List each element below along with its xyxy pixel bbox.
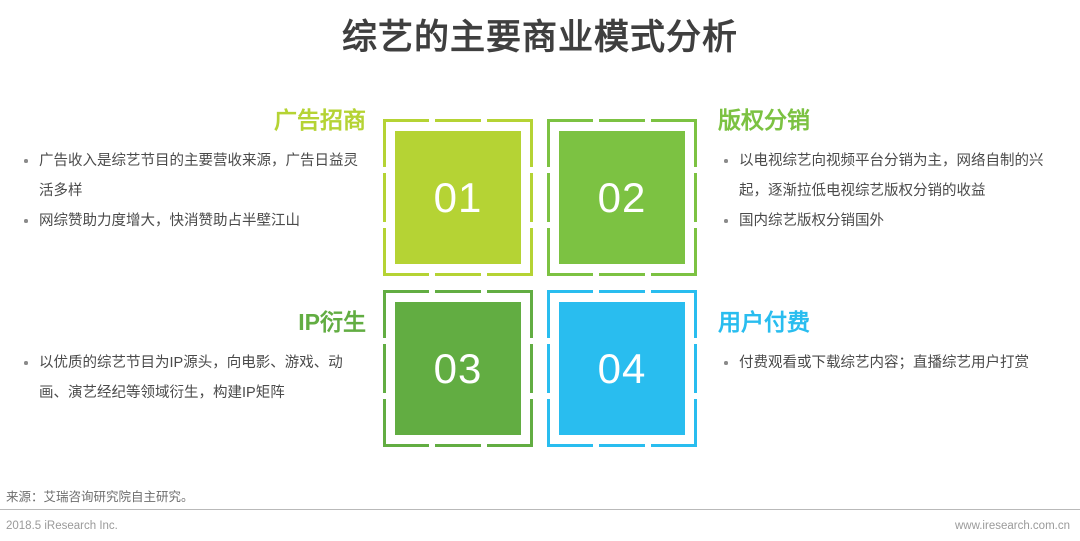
frame-dash-right-icon bbox=[530, 173, 533, 222]
frame-dash-bottom-icon bbox=[435, 444, 481, 447]
footer-divider bbox=[0, 509, 1080, 510]
tile-cell-03: 03 bbox=[383, 290, 533, 447]
slide-canvas: 综艺的主要商业模式分析 广告招商 广告收入是综艺节目的主要营收来源，广告日益灵活… bbox=[0, 0, 1080, 541]
frame-dash-left-icon bbox=[383, 173, 386, 222]
mode-tile-grid: 01 02 03 bbox=[383, 119, 697, 447]
source-note: 来源：艾瑞咨询研究院自主研究。 bbox=[6, 488, 194, 506]
frame-dash-top-icon bbox=[599, 290, 645, 293]
panel-heading-copyright-distribution: 版权分销 bbox=[718, 106, 1070, 134]
tile-cell-02: 02 bbox=[547, 119, 697, 276]
panel-heading-ip-derivatives: IP衍生 bbox=[18, 308, 366, 336]
list-item: 国内综艺版权分销国外 bbox=[718, 206, 1070, 236]
list-item: 以优质的综艺节目为IP源头，向电影、游戏、动画、演艺经纪等领域衍生，构建IP矩阵 bbox=[18, 348, 366, 408]
bullet-list-ip-derivatives: 以优质的综艺节目为IP源头，向电影、游戏、动画、演艺经纪等领域衍生，构建IP矩阵 bbox=[18, 348, 366, 408]
tile-cell-04: 04 bbox=[547, 290, 697, 447]
panel-heading-user-payment: 用户付费 bbox=[718, 308, 1070, 336]
tile-number-03: 03 bbox=[434, 348, 483, 390]
frame-dash-right-icon bbox=[694, 344, 697, 393]
list-item: 以电视综艺向视频平台分销为主，网络自制的兴起，逐渐拉低电视综艺版权分销的收益 bbox=[718, 146, 1070, 206]
bullet-list-ad-investment: 广告收入是综艺节目的主要营收来源，广告日益灵活多样 网综赞助力度增大，快消赞助占… bbox=[18, 146, 366, 236]
list-item: 广告收入是综艺节目的主要营收来源，广告日益灵活多样 bbox=[18, 146, 366, 206]
panel-heading-ad-investment: 广告招商 bbox=[18, 106, 366, 134]
frame-dash-bottom-icon bbox=[435, 273, 481, 276]
footer-website: www.iresearch.com.cn bbox=[955, 518, 1070, 534]
panel-ip-derivatives: IP衍生 以优质的综艺节目为IP源头，向电影、游戏、动画、演艺经纪等领域衍生，构… bbox=[18, 308, 366, 408]
panel-ad-investment: 广告招商 广告收入是综艺节目的主要营收来源，广告日益灵活多样 网综赞助力度增大，… bbox=[18, 106, 366, 236]
tile-number-02: 02 bbox=[598, 177, 647, 219]
page-title: 综艺的主要商业模式分析 bbox=[0, 14, 1080, 62]
frame-dash-left-icon bbox=[547, 173, 550, 222]
frame-dash-left-icon bbox=[383, 344, 386, 393]
tile-cell-01: 01 bbox=[383, 119, 533, 276]
frame-dash-top-icon bbox=[435, 119, 481, 122]
frame-dash-top-icon bbox=[435, 290, 481, 293]
tile-01: 01 bbox=[395, 131, 521, 264]
bullet-list-user-payment: 付费观看或下载综艺内容；直播综艺用户打赏 bbox=[718, 348, 1070, 378]
tile-number-01: 01 bbox=[434, 177, 483, 219]
frame-dash-right-icon bbox=[694, 173, 697, 222]
panel-copyright-distribution: 版权分销 以电视综艺向视频平台分销为主，网络自制的兴起，逐渐拉低电视综艺版权分销… bbox=[718, 106, 1070, 236]
tile-04: 04 bbox=[559, 302, 685, 435]
frame-dash-right-icon bbox=[530, 344, 533, 393]
frame-dash-bottom-icon bbox=[599, 273, 645, 276]
tile-number-04: 04 bbox=[598, 348, 647, 390]
bullet-list-copyright-distribution: 以电视综艺向视频平台分销为主，网络自制的兴起，逐渐拉低电视综艺版权分销的收益 国… bbox=[718, 146, 1070, 236]
frame-dash-left-icon bbox=[547, 344, 550, 393]
tile-03: 03 bbox=[395, 302, 521, 435]
footer-copyright: 2018.5 iResearch Inc. bbox=[6, 518, 118, 534]
panel-user-payment: 用户付费 付费观看或下载综艺内容；直播综艺用户打赏 bbox=[718, 308, 1070, 378]
frame-dash-top-icon bbox=[599, 119, 645, 122]
frame-dash-bottom-icon bbox=[599, 444, 645, 447]
list-item: 网综赞助力度增大，快消赞助占半壁江山 bbox=[18, 206, 366, 236]
tile-02: 02 bbox=[559, 131, 685, 264]
list-item: 付费观看或下载综艺内容；直播综艺用户打赏 bbox=[718, 348, 1070, 378]
